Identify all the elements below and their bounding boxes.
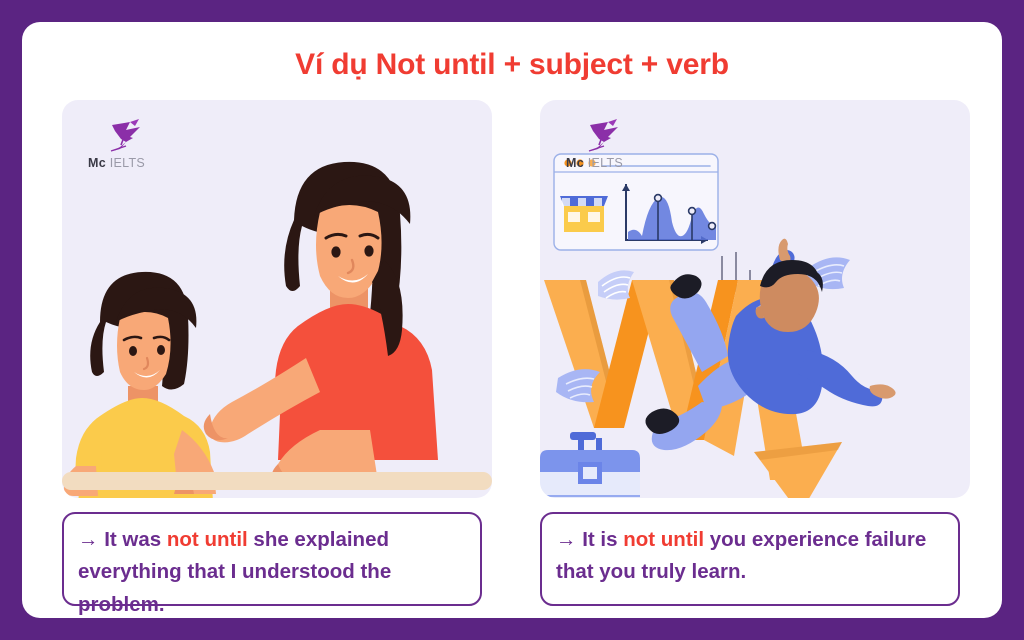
example-panel-left: Mc IELTS (42, 80, 494, 618)
slide-canvas: Ví dụ Not until + subject + verb (0, 0, 1024, 640)
hummingbird-icon (584, 118, 628, 156)
brand-name-bold: Mc (566, 156, 584, 170)
illustration-panel-right: Mc IELTS (540, 100, 970, 498)
caption-text-right: → It is not until you experience failure… (556, 524, 946, 589)
arrow-glyph: → (78, 528, 99, 551)
brand-logo-right: Mc IELTS (566, 118, 662, 180)
illustration-panel-left: Mc IELTS (62, 100, 492, 498)
example-panel-right: Mc IELTS (520, 80, 972, 618)
caption-text-left: → It was not until she explained everyth… (78, 524, 468, 621)
brand-logo-label: Mc IELTS (566, 156, 662, 170)
hummingbird-icon (106, 118, 150, 156)
storefront-icon (560, 196, 608, 232)
arrow-glyph: → (556, 528, 577, 551)
brand-logo-label: Mc IELTS (88, 156, 184, 170)
caption-segment-1: It was (104, 528, 167, 551)
brand-logo-left: Mc IELTS (88, 118, 184, 180)
flying-paper-icon (598, 270, 634, 299)
brand-name-bold: Mc (88, 156, 106, 170)
caption-highlight: not until (623, 528, 704, 551)
caption-segment-1: It is (582, 528, 623, 551)
briefcase-icon (540, 432, 640, 498)
brand-name-light: IELTS (110, 156, 145, 170)
caption-box-right: → It is not until you experience failure… (540, 512, 960, 606)
page-title: Ví dụ Not until + subject + verb (22, 48, 1002, 82)
caption-box-left: → It was not until she explained everyth… (62, 512, 482, 606)
caption-highlight: not until (167, 528, 248, 551)
examples-row: Mc IELTS (22, 80, 1002, 618)
brand-name-light: IELTS (588, 156, 623, 170)
content-card: Ví dụ Not until + subject + verb (22, 22, 1002, 618)
